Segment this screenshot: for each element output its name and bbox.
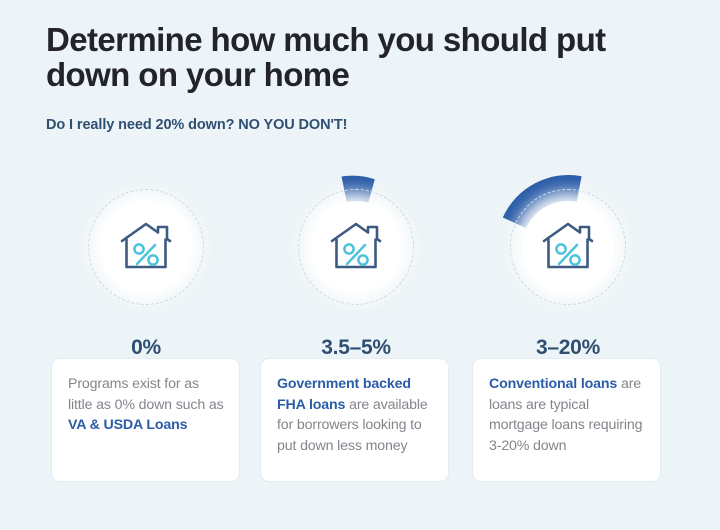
- house-percent-icon: [540, 220, 596, 274]
- gauge-label-zero: 0%: [131, 336, 161, 360]
- gauge-column-zero: 0%: [40, 172, 252, 360]
- info-card-fha: Government backed FHA loans are availabl…: [260, 358, 449, 482]
- card-slot-fha: Government backed FHA loans are availabl…: [250, 358, 462, 482]
- gauge-label-conventional: 3–20%: [536, 336, 600, 360]
- donut-gauge-conventional: [493, 172, 643, 322]
- card-emphasis-text: VA & USDA Loans: [68, 417, 187, 433]
- gauge-column-fha: 3.5–5%: [250, 172, 462, 360]
- page-title: Determine how much you should put down o…: [46, 22, 646, 92]
- card-slot-va-usda: Programs exist for as little as 0% down …: [40, 358, 252, 482]
- donut-gauge-fha: [281, 172, 431, 322]
- card-text-fha: Government backed FHA loans are availabl…: [277, 374, 433, 456]
- info-card-conventional: Conventional loans are loans are typical…: [472, 358, 661, 482]
- card-lead-text: Programs exist for as little as 0% down …: [68, 376, 224, 413]
- gauge-row: 0% 3.5–5%: [0, 172, 720, 360]
- infographic-root: Determine how much you should put down o…: [0, 0, 720, 530]
- card-slot-conventional: Conventional loans are loans are typical…: [462, 358, 674, 482]
- card-text-va-usda: Programs exist for as little as 0% down …: [68, 374, 224, 436]
- house-percent-icon: [328, 220, 384, 274]
- page-subtitle: Do I really need 20% down? NO YOU DON'T!: [46, 117, 686, 133]
- card-row: Programs exist for as little as 0% down …: [0, 358, 720, 482]
- gauge-label-fha: 3.5–5%: [321, 336, 390, 360]
- card-text-conventional: Conventional loans are loans are typical…: [489, 374, 645, 456]
- gauge-column-conventional: 3–20%: [462, 172, 674, 360]
- header: Determine how much you should put down o…: [46, 22, 686, 133]
- donut-gauge-zero: [71, 172, 221, 322]
- house-percent-icon: [118, 220, 174, 274]
- card-emphasis-text: Conventional loans: [489, 376, 617, 392]
- info-card-va-usda: Programs exist for as little as 0% down …: [51, 358, 240, 482]
